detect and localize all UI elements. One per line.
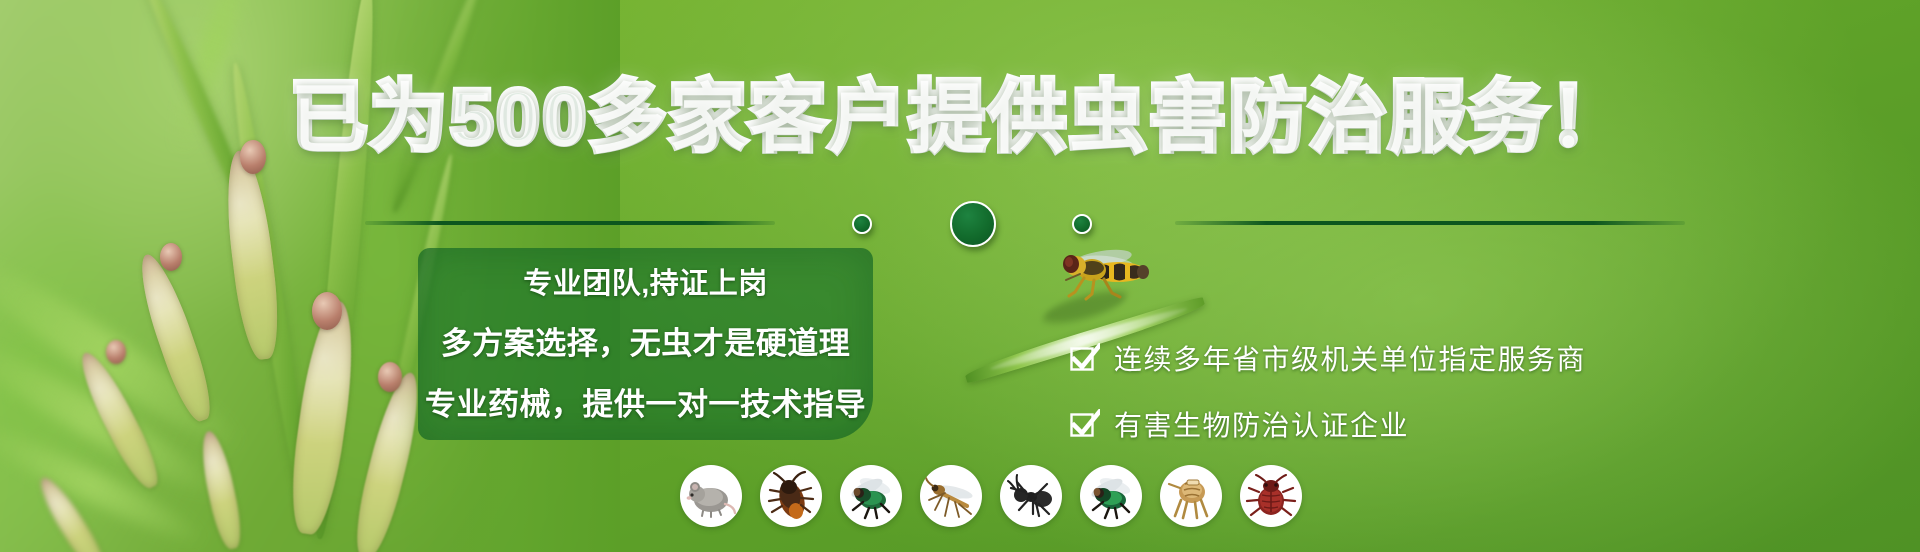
mouse-icon[interactable] (680, 465, 742, 527)
feature-line-1: 专业团队,持证上岗 (523, 260, 768, 302)
flower-bud (160, 243, 182, 271)
divider-rule-left (365, 221, 775, 225)
checklist-item: 连续多年省市级机关单位指定服务商 (1070, 338, 1586, 378)
divider-dots (820, 201, 1130, 249)
checkbox-checked-icon (1070, 409, 1100, 439)
flower-bud (106, 340, 126, 364)
flower-bud (378, 362, 402, 392)
cockroach-icon[interactable] (760, 465, 822, 527)
flea-icon[interactable] (1160, 465, 1222, 527)
divider-rule-right (1175, 221, 1685, 225)
checkbox-checked-icon (1070, 343, 1100, 373)
feature-panel: 专业团队,持证上岗 多方案选择，无虫才是硬道理 专业药械，提供一对一技术指导 (418, 248, 873, 440)
divider (0, 211, 1920, 235)
dot-small-left (852, 214, 872, 234)
fly-green-icon[interactable] (1080, 465, 1142, 527)
banner-headline-text: 已为500多家客户提供虫害防治服务！ (291, 75, 1630, 160)
checklist-item-label: 连续多年省市级机关单位指定服务商 (1114, 338, 1586, 378)
flower-bud (312, 292, 342, 330)
mosquito-icon[interactable] (920, 465, 982, 527)
fly-icon[interactable] (840, 465, 902, 527)
hoverfly-icon (1040, 246, 1160, 302)
dot-small-right (1072, 214, 1092, 234)
bedbug-icon[interactable] (1240, 465, 1302, 527)
checklist-item: 有害生物防治认证企业 (1070, 404, 1586, 444)
checklist-item-label: 有害生物防治认证企业 (1114, 404, 1409, 444)
promo-banner: 已为500多家客户提供虫害防治服务！ 专业团队,持证上岗 多方案选择，无虫才是硬… (0, 0, 1920, 552)
ant-icon[interactable] (1000, 465, 1062, 527)
credentials-checklist: 连续多年省市级机关单位指定服务商 有害生物防治认证企业 (1070, 338, 1586, 444)
pest-icon-strip (680, 465, 1302, 527)
banner-headline: 已为500多家客户提供虫害防治服务！ (0, 80, 1920, 156)
feature-line-3: 专业药械，提供一对一技术指导 (425, 379, 866, 424)
dot-large-center (950, 201, 996, 247)
feature-line-2: 多方案选择，无虫才是硬道理 (441, 318, 851, 363)
